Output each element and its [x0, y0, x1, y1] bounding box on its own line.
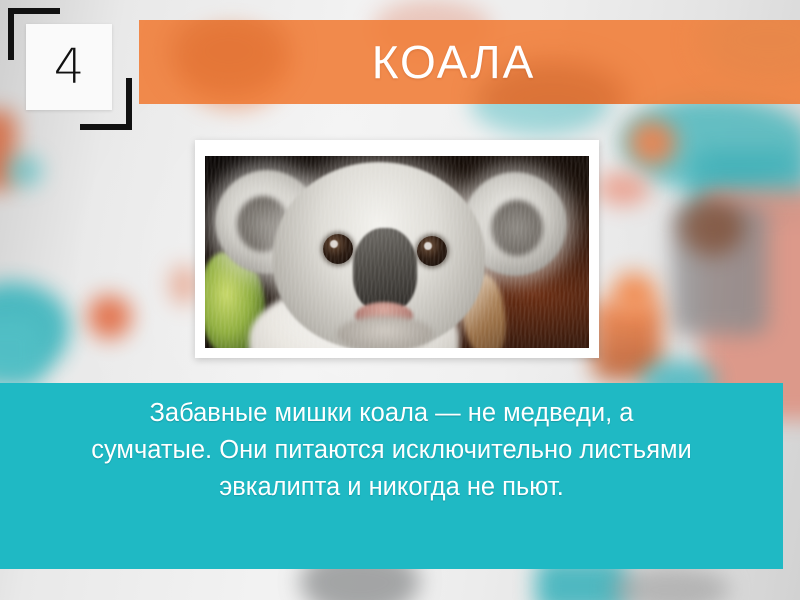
- caption-line-3: эвкалипта и никогда не пьют.: [21, 469, 763, 506]
- slide-number-text: 4: [54, 43, 85, 91]
- title-bar-texture-1: [169, 20, 289, 96]
- slide-canvas: 4 КОАЛА Забавные мишки коала — не медвед…: [0, 0, 800, 600]
- photo-frame: [195, 140, 599, 358]
- slide-number-badge: 4: [8, 8, 128, 126]
- photo-fur-texture: [205, 156, 589, 348]
- caption-band: Забавные мишки коала — не медведи, а сум…: [0, 383, 783, 569]
- caption-line-1: Забавные мишки коала — не медведи, а: [21, 395, 763, 432]
- page-title: КОАЛА: [372, 39, 536, 85]
- title-bar-texture-3: [699, 20, 800, 80]
- caption-line-2: сумчатые. Они питаются исключительно лис…: [21, 432, 763, 469]
- slide-number-box: 4: [26, 24, 112, 110]
- title-bar: КОАЛА: [139, 20, 800, 104]
- koala-photo: [205, 156, 589, 348]
